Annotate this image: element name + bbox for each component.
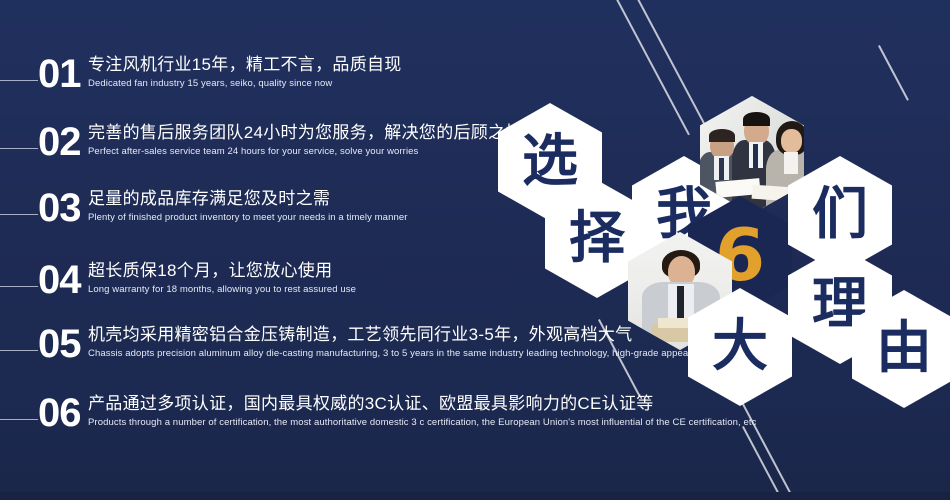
person-shirt: [784, 152, 798, 174]
person-tie: [753, 144, 758, 168]
hex-char: 由: [876, 321, 932, 377]
promo-banner: 01 专注风机行业15年，精工不言，品质自现 Dedicated fan ind…: [0, 0, 950, 500]
hex-char: 们: [812, 187, 868, 243]
person-tie: [719, 158, 724, 180]
desk-paper: [752, 185, 793, 202]
hex-char: 择: [569, 211, 625, 267]
hexagon-headline-cluster: 选 择 我: [0, 0, 950, 500]
person-hair: [743, 112, 770, 126]
hex-char: 选: [522, 134, 578, 190]
person-hair: [709, 129, 735, 142]
person-face: [781, 129, 802, 153]
bottom-edge-strip: [0, 492, 950, 500]
hex-char: 大: [712, 319, 768, 375]
